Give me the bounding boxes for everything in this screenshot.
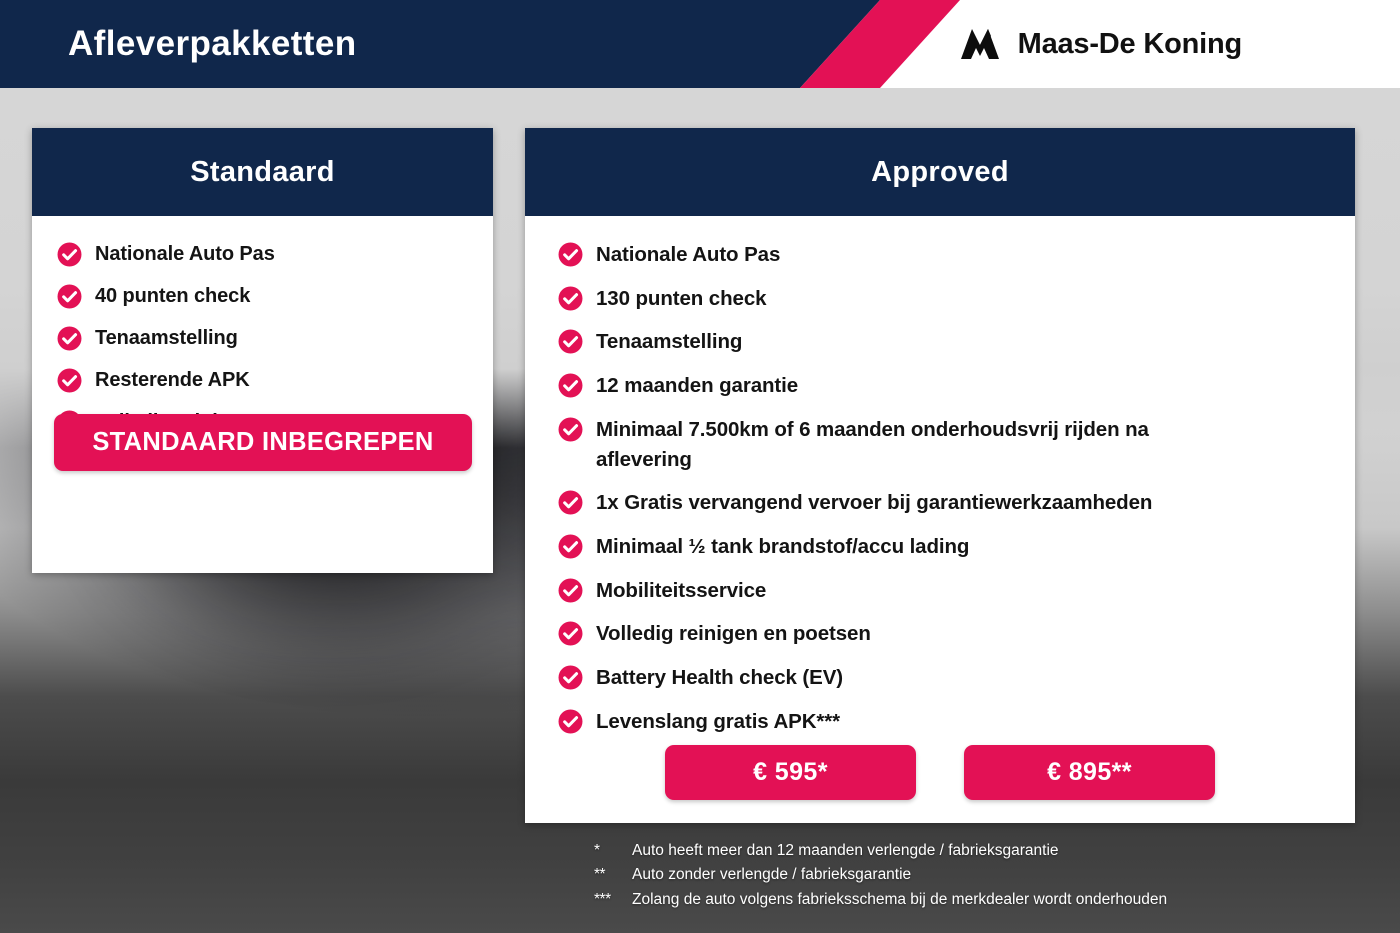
feature-label: Nationale Auto Pas [596,240,780,270]
list-item: Volledig reinigen en poetsen [525,619,1355,649]
check-circle-icon [558,578,583,603]
feature-label: Mobiliteitsservice [596,576,766,606]
page-title: Afleverpakketten [68,0,356,88]
feature-label: Tenaamstelling [596,327,742,357]
package-card-approved-body: Nationale Auto Pas 130 punten check Tena… [525,216,1355,737]
check-circle-icon [57,242,82,267]
standaard-inbegrepen-button[interactable]: STANDAARD INBEGREPEN [54,414,472,471]
footnotes-block: * Auto heeft meer dan 12 maanden verleng… [594,839,1354,912]
list-item: 40 punten check [32,282,493,311]
list-item: Minimaal 7.500km of 6 maanden onderhouds… [525,415,1355,474]
feature-label: Tenaamstelling [95,324,238,353]
feature-label: Levenslang gratis APK*** [596,707,840,737]
poster-canvas: Afleverpakketten Maas-De Koning Standaar… [0,0,1400,933]
footnote-marker: ** [594,863,632,887]
footnote-row: ** Auto zonder verlengde / fabrieksgaran… [594,863,1354,887]
feature-label: 1x Gratis vervangend vervoer bij garanti… [596,488,1152,518]
footnote-row: *** Zolang de auto volgens fabrieksschem… [594,888,1354,912]
check-circle-icon [558,621,583,646]
feature-label: Volledig reinigen en poetsen [596,619,871,649]
list-item: Levenslang gratis APK*** [525,707,1355,737]
footnote-marker: * [594,839,632,863]
footnote-text: Auto zonder verlengde / fabrieksgarantie [632,863,911,887]
check-circle-icon [558,534,583,559]
package-card-approved: Approved Nationale Auto Pas 130 punten c [525,128,1355,823]
package-card-standaard-header: Standaard [32,128,493,216]
check-circle-icon [558,373,583,398]
package-card-standaard-title: Standaard [190,156,335,189]
page-header: Afleverpakketten Maas-De Koning [0,0,1400,88]
feature-label: Minimaal 7.500km of 6 maanden onderhouds… [596,415,1216,474]
footnote-marker: *** [594,888,632,912]
list-item: Minimaal ½ tank brandstof/accu lading [525,532,1355,562]
list-item: Battery Health check (EV) [525,663,1355,693]
feature-label: Resterende APK [95,366,250,395]
feature-label: 12 maanden garantie [596,371,798,401]
feature-label: 130 punten check [596,284,766,314]
list-item: Tenaamstelling [525,327,1355,357]
check-circle-icon [558,329,583,354]
list-item: Nationale Auto Pas [32,240,493,269]
feature-label: 40 punten check [95,282,250,311]
footnote-text: Auto heeft meer dan 12 maanden verlengde… [632,839,1059,863]
check-circle-icon [558,665,583,690]
footnote-text: Zolang de auto volgens fabrieksschema bi… [632,888,1167,912]
check-circle-icon [57,326,82,351]
list-item: Tenaamstelling [32,324,493,353]
list-item: Mobiliteitsservice [525,576,1355,606]
list-item: 130 punten check [525,284,1355,314]
package-card-standaard-body: Nationale Auto Pas 40 punten check Tenaa… [32,216,493,437]
brand-logo: Maas-De Koning [958,0,1242,88]
price-button-595[interactable]: € 595* [665,745,916,800]
feature-list-standaard: Nationale Auto Pas 40 punten check Tenaa… [32,240,493,437]
list-item: 1x Gratis vervangend vervoer bij garanti… [525,488,1355,518]
package-card-standaard: Standaard Nationale Auto Pas 40 punten c [32,128,493,573]
price-button-895[interactable]: € 895** [964,745,1215,800]
feature-label: Battery Health check (EV) [596,663,843,693]
feature-label: Minimaal ½ tank brandstof/accu lading [596,532,969,562]
brand-name: Maas-De Koning [1018,28,1242,61]
price-button-row: € 595* € 895** [525,745,1355,800]
package-card-approved-title: Approved [871,156,1009,189]
footnote-row: * Auto heeft meer dan 12 maanden verleng… [594,839,1354,863]
check-circle-icon [558,286,583,311]
check-circle-icon [558,242,583,267]
feature-list-approved: Nationale Auto Pas 130 punten check Tena… [525,240,1355,737]
list-item: Resterende APK [32,366,493,395]
check-circle-icon [57,284,82,309]
list-item: Nationale Auto Pas [525,240,1355,270]
check-circle-icon [558,490,583,515]
check-circle-icon [558,709,583,734]
list-item: 12 maanden garantie [525,371,1355,401]
check-circle-icon [57,368,82,393]
check-circle-icon [558,417,583,442]
package-card-approved-header: Approved [525,128,1355,216]
feature-label: Nationale Auto Pas [95,240,275,269]
maas-de-koning-m-mark-icon [958,27,1002,61]
